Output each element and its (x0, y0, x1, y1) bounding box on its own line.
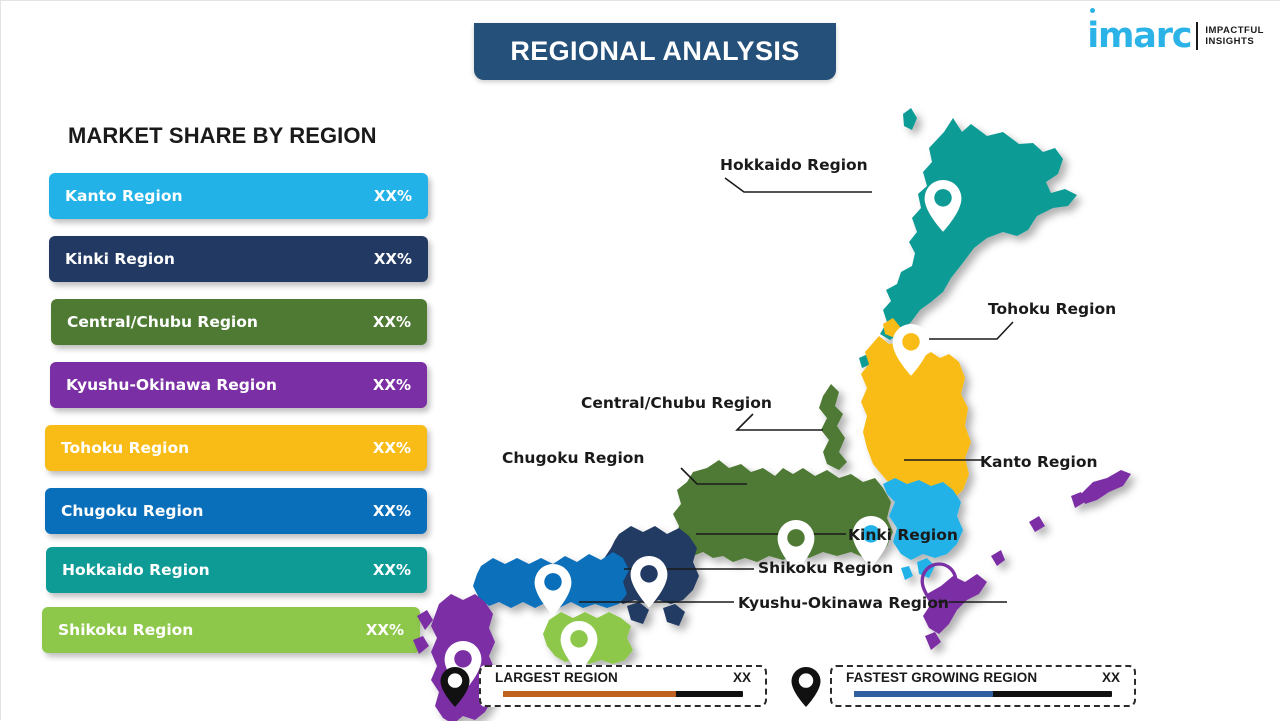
imarc-logo-dot (1090, 8, 1095, 13)
page-title-box: REGIONAL ANALYSIS (474, 23, 836, 80)
market-share-bar[interactable]: Chugoku RegionXX% (45, 488, 427, 534)
market-share-bar[interactable]: Central/Chubu RegionXX% (51, 299, 427, 345)
region-name: Kinki Region (65, 250, 374, 268)
region-name: Shikoku Region (58, 621, 366, 639)
fastest-growing-region-card[interactable]: FASTEST GROWING REGIONXX (830, 665, 1136, 707)
location-pin-icon (790, 666, 822, 708)
page-title: REGIONAL ANALYSIS (510, 36, 799, 67)
region-name: Tohoku Region (61, 439, 373, 457)
region-name: Chugoku Region (61, 502, 373, 520)
imarc-logo-wordmark: imarc (1087, 19, 1191, 54)
largest-region-label: LARGEST REGION (495, 670, 618, 685)
region-share-value: XX% (373, 439, 411, 457)
market-share-bar[interactable]: Shikoku RegionXX% (42, 607, 420, 653)
fastest-growing-region-value: XX (1102, 670, 1120, 685)
fastest-growing-region-pin (790, 666, 822, 708)
imarc-logo: imarc IMPACTFUL INSIGHTS (1087, 15, 1264, 57)
map-label-central: Central/Chubu Region (581, 394, 772, 412)
tagline-line-2: INSIGHTS (1205, 36, 1264, 47)
market-share-bar[interactable]: Kyushu-Okinawa RegionXX% (50, 362, 427, 408)
largest-region-pin (439, 666, 471, 708)
fastest-growing-region-row: FASTEST GROWING REGIONXX (832, 667, 1134, 685)
slide-canvas: REGIONAL ANALYSIS imarc IMPACTFUL INSIGH… (0, 0, 1280, 720)
map-label-kinki: Kinki Region (848, 526, 958, 544)
largest-region-value: XX (733, 670, 751, 685)
fastest-growing-region-label: FASTEST GROWING REGION (846, 670, 1037, 685)
market-share-bar[interactable]: Kinki RegionXX% (49, 236, 428, 282)
map-label-tohoku: Tohoku Region (988, 300, 1116, 318)
region-share-value: XX% (366, 621, 404, 639)
map-label-hokkaido: Hokkaido Region (720, 156, 868, 174)
location-pin-icon (439, 666, 471, 708)
map-label-kanto: Kanto Region (980, 453, 1098, 471)
fastest-growing-region-progress-fill (854, 691, 993, 697)
region-share-value: XX% (373, 502, 411, 520)
map-label-chugoku: Chugoku Region (502, 449, 644, 467)
region-name: Central/Chubu Region (67, 313, 373, 331)
largest-region-row: LARGEST REGIONXX (481, 667, 765, 685)
largest-region-progress-fill (503, 691, 676, 697)
market-share-bar[interactable]: Kanto RegionXX% (49, 173, 428, 219)
region-share-value: XX% (373, 313, 411, 331)
largest-region-progress-track (503, 691, 743, 697)
map-label-shikoku: Shikoku Region (758, 559, 893, 577)
region-name: Kyushu-Okinawa Region (66, 376, 373, 394)
region-share-value: XX% (373, 561, 411, 579)
map-label-kyushu: Kyushu-Okinawa Region (738, 594, 949, 612)
market-share-bar[interactable]: Tohoku RegionXX% (45, 425, 427, 471)
largest-region-card[interactable]: LARGEST REGIONXX (479, 665, 767, 707)
logo-divider (1196, 22, 1198, 50)
region-share-value: XX% (374, 187, 412, 205)
region-name: Hokkaido Region (62, 561, 373, 579)
map-pin-chugoku (535, 564, 572, 616)
region-share-value: XX% (374, 250, 412, 268)
region-name: Kanto Region (65, 187, 374, 205)
region-share-value: XX% (373, 376, 411, 394)
market-share-bar[interactable]: Hokkaido RegionXX% (46, 547, 427, 593)
tagline-line-1: IMPACTFUL (1205, 25, 1264, 36)
market-share-bar-list: Kanto RegionXX%Kinki RegionXX%Central/Ch… (1, 1, 471, 721)
fastest-growing-region-progress-track (854, 691, 1112, 697)
imarc-logo-tagline: IMPACTFUL INSIGHTS (1205, 25, 1264, 47)
